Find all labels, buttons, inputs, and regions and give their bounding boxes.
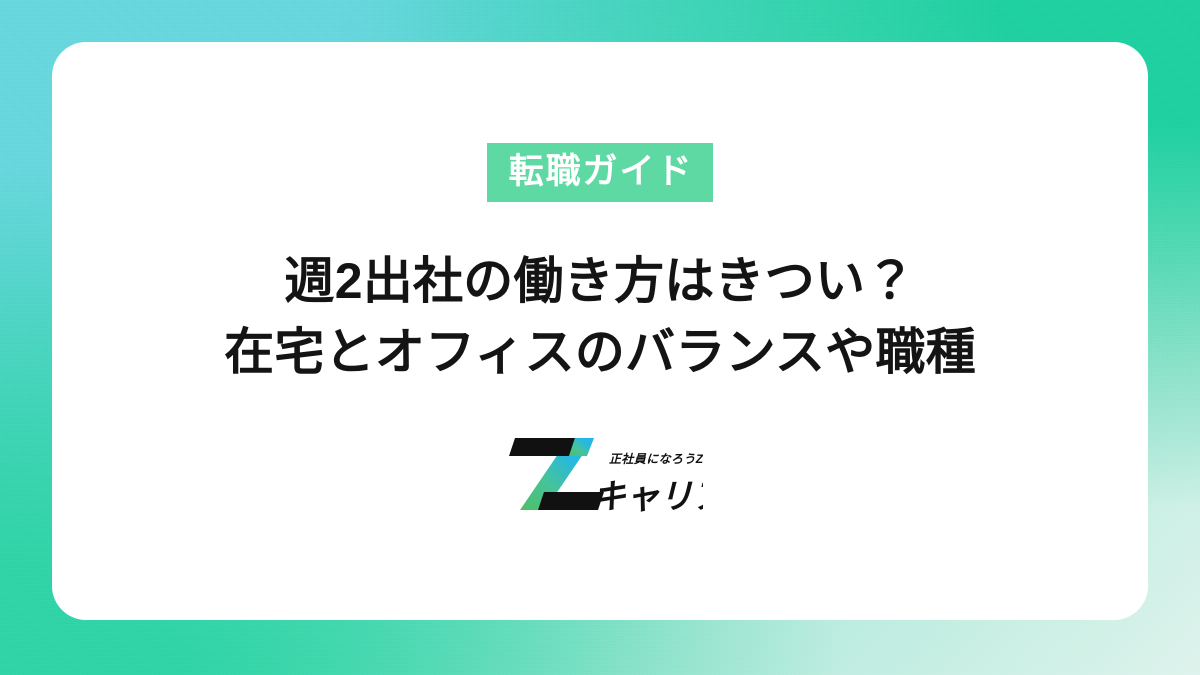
category-badge: 転職ガイド <box>487 143 714 202</box>
content-card: 転職ガイド 週2出社の働き方はきつい？ 在宅とオフィスのバランスや職種 <box>52 42 1148 620</box>
poster-background: 転職ガイド 週2出社の働き方はきつい？ 在宅とオフィスのバランスや職種 <box>0 0 1200 675</box>
logo-wordmark: キャリア <box>592 478 703 516</box>
logo-tagline: 正社員になろうZ! <box>609 452 703 466</box>
z-mark-icon <box>509 438 604 510</box>
page-title-line-2: 在宅とオフィスのバランスや職種 <box>224 317 976 388</box>
page-title-line-1: 週2出社の働き方はきつい？ <box>224 246 976 317</box>
page-title: 週2出社の働き方はきつい？ 在宅とオフィスのバランスや職種 <box>224 246 976 388</box>
z-career-logo-svg: 正社員になろうZ! キャリア <box>497 428 703 520</box>
brand-logo: 正社員になろうZ! キャリア <box>497 428 703 520</box>
